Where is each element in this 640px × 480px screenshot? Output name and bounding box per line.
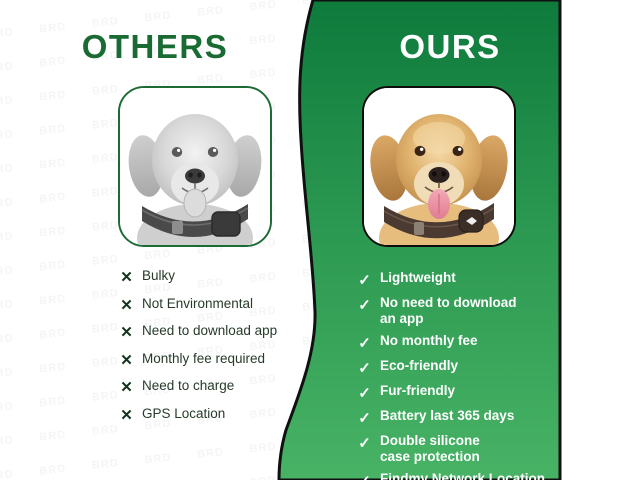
page-title-ours: OURS xyxy=(350,28,550,66)
cross-icon: ✕ xyxy=(118,353,135,368)
cross-icon: ✕ xyxy=(118,298,135,313)
check-icon: ✓ xyxy=(356,298,373,313)
others-list-item: ✕Monthly fee required xyxy=(118,351,298,368)
ours-list-item: ✓Battery last 365 days xyxy=(356,408,556,426)
ours-list-item: ✓No monthly fee xyxy=(356,333,556,351)
cross-icon: ✕ xyxy=(118,380,135,395)
others-dog-photo xyxy=(118,86,272,247)
ours-list-item-label-line2: an app xyxy=(380,311,517,327)
ours-list-item-label: Battery last 365 days xyxy=(380,408,514,424)
others-list-item: ✕GPS Location xyxy=(118,406,298,423)
others-list-item: ✕Need to download app xyxy=(118,323,298,340)
ours-list-item: ✓Lightweight xyxy=(356,270,556,288)
ours-list-item-label: Fur-friendly xyxy=(380,383,455,399)
ours-list-item: ✓Fur-friendly xyxy=(356,383,556,401)
others-list-item-label: Need to download app xyxy=(142,323,277,339)
check-icon: ✓ xyxy=(356,386,373,401)
ours-list-item: ✓Double siliconecase protection xyxy=(356,433,556,464)
ours-feature-list: ✓Lightweight✓No need to downloadan app✓N… xyxy=(356,270,556,480)
ours-dog-photo xyxy=(362,86,516,247)
others-list-item: ✕Not Environmental xyxy=(118,296,298,313)
page-title-others: OTHERS xyxy=(55,28,255,66)
comparison-infographic: BRDBRDBRDBRDBRDBRDBRDBRDBRDBRDBRDBRDBRDB… xyxy=(0,0,640,480)
ours-list-item-label: No need to downloadan app xyxy=(380,295,517,326)
ours-list-item-label: Eco-friendly xyxy=(380,358,458,374)
others-list-item: ✕Bulky xyxy=(118,268,298,285)
check-icon: ✓ xyxy=(356,411,373,426)
others-list-item-label: Not Environmental xyxy=(142,296,253,312)
check-icon: ✓ xyxy=(356,273,373,288)
others-feature-list: ✕Bulky✕Not Environmental✕Need to downloa… xyxy=(118,268,298,433)
ours-list-item-label: Findmy Network Location xyxy=(380,471,545,480)
others-list-item-label: Bulky xyxy=(142,268,175,284)
ours-list-item: ✓Findmy Network Location xyxy=(356,471,556,480)
cross-icon: ✕ xyxy=(118,325,135,340)
grayscale-dog-image xyxy=(120,88,270,245)
ours-list-item-label-line2: case protection xyxy=(380,449,480,465)
others-list-item-label: GPS Location xyxy=(142,406,225,422)
cross-icon: ✕ xyxy=(118,270,135,285)
ours-list-item-label: No monthly fee xyxy=(380,333,478,349)
others-list-item: ✕Need to charge xyxy=(118,378,298,395)
cross-icon: ✕ xyxy=(118,408,135,423)
check-icon: ✓ xyxy=(356,474,373,480)
check-icon: ✓ xyxy=(356,336,373,351)
check-icon: ✓ xyxy=(356,436,373,451)
others-list-item-label: Monthly fee required xyxy=(142,351,265,367)
ours-list-item: ✓Eco-friendly xyxy=(356,358,556,376)
ours-list-item: ✓No need to downloadan app xyxy=(356,295,556,326)
color-dog-image xyxy=(364,88,514,245)
others-list-item-label: Need to charge xyxy=(142,378,234,394)
check-icon: ✓ xyxy=(356,361,373,376)
ours-list-item-label: Lightweight xyxy=(380,270,456,286)
ours-list-item-label: Double siliconecase protection xyxy=(380,433,480,464)
